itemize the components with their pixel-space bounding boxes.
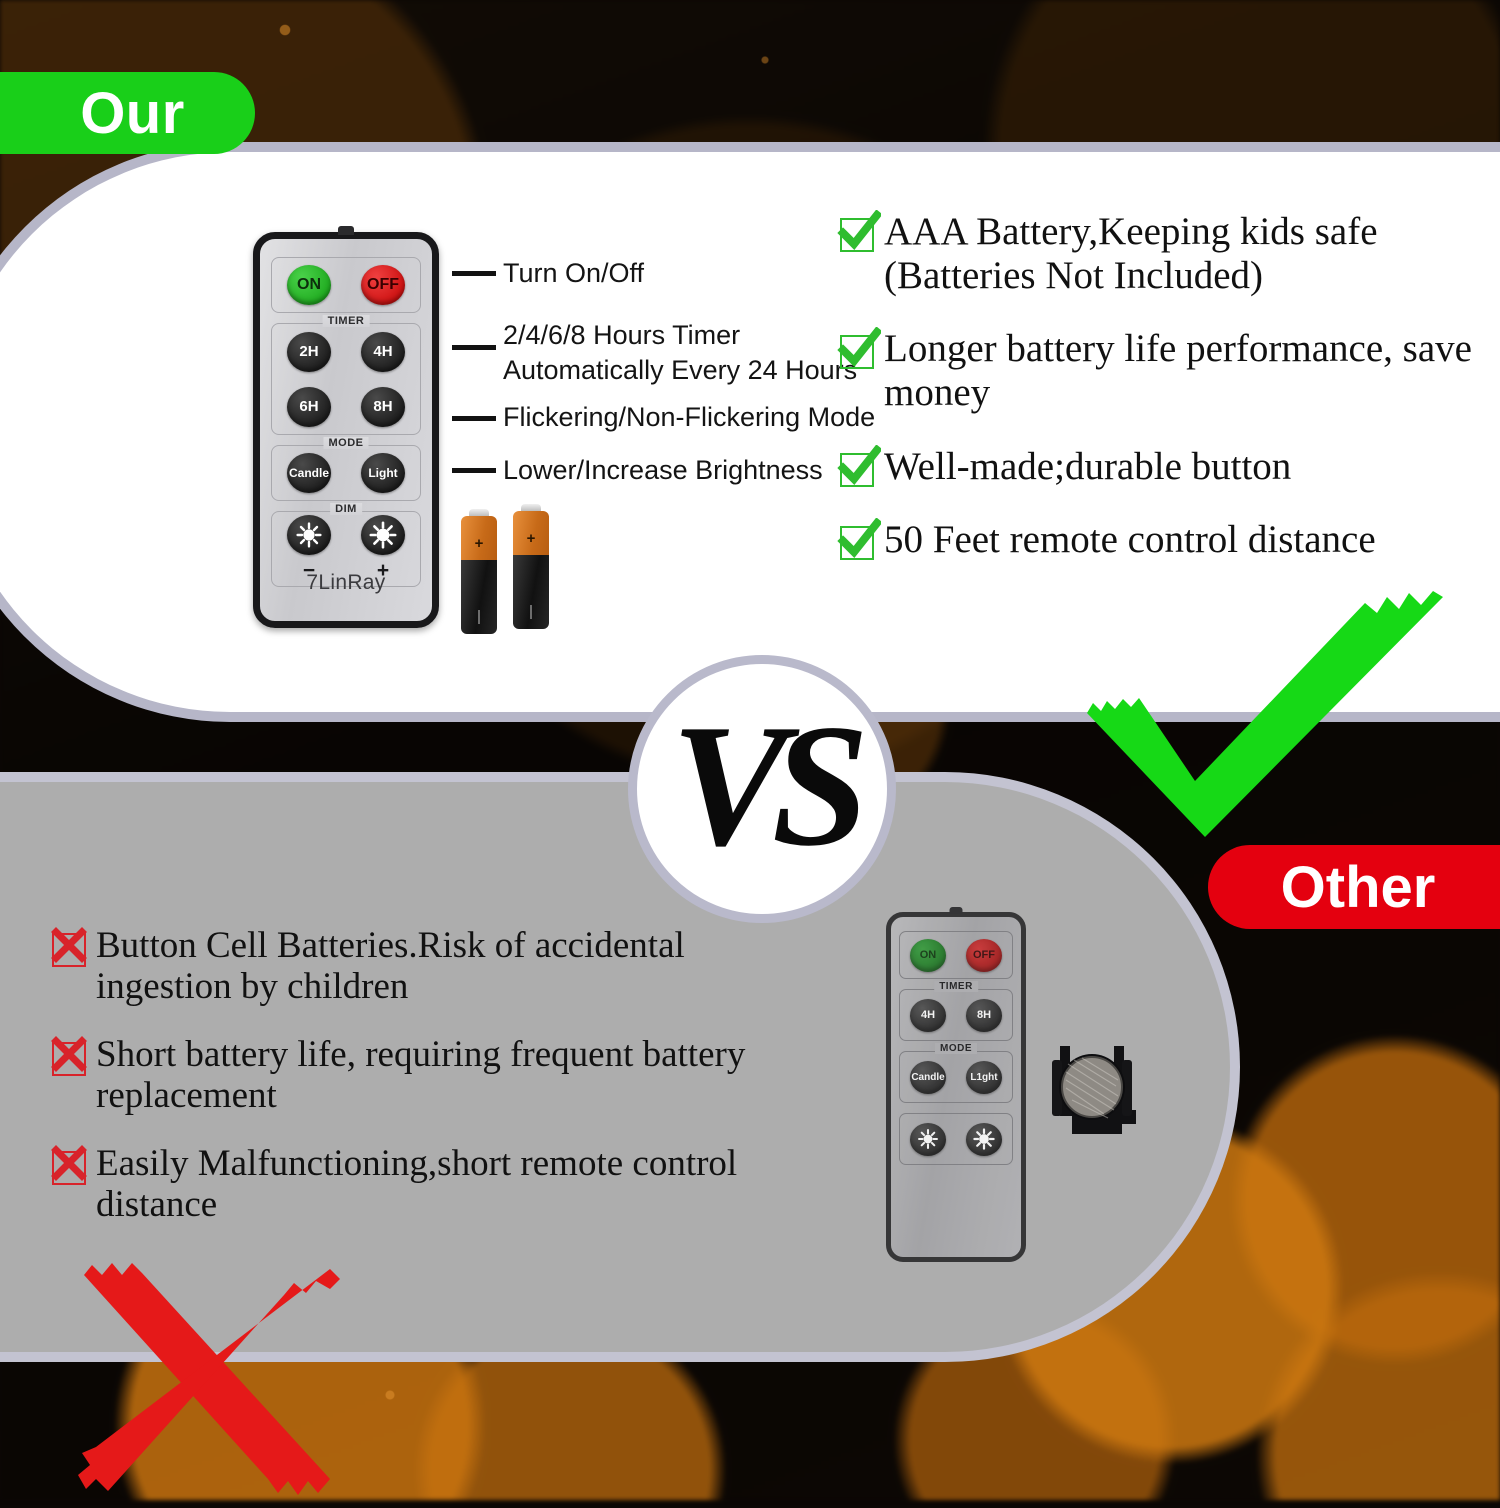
on-button[interactable]: ON bbox=[287, 265, 331, 305]
battery-body bbox=[461, 560, 497, 634]
other-remote: ON OFF TIMER 4H 8H MODE Candle L1ght bbox=[886, 912, 1026, 1262]
mode-group: MODE Candle Light bbox=[271, 445, 421, 501]
our-badge-label: Our bbox=[80, 80, 185, 147]
other-dim-group bbox=[899, 1113, 1013, 1165]
feature-item: Well-made;durable button bbox=[840, 445, 1480, 489]
callout-mode: Flickering/Non-Flickering Mode bbox=[503, 400, 875, 435]
check-icon bbox=[840, 453, 874, 487]
feature-text: AAA Battery,Keeping kids safe (Batteries… bbox=[884, 210, 1480, 297]
drawback-text: Easily Malfunctioning,short remote contr… bbox=[96, 1143, 792, 1226]
other-power-group: ON OFF bbox=[899, 931, 1013, 979]
callout-power: Turn On/Off bbox=[503, 256, 644, 291]
vs-label: VS bbox=[671, 698, 853, 873]
callout-timer-line1: 2/4/6/8 Hours Timer bbox=[503, 318, 857, 353]
timer-label: TIMER bbox=[323, 315, 370, 327]
check-icon bbox=[840, 526, 874, 560]
other-dim-down-button[interactable] bbox=[910, 1123, 946, 1156]
dim-down-button[interactable] bbox=[287, 515, 331, 555]
mode-light-button[interactable]: Light bbox=[361, 453, 405, 493]
cross-icon bbox=[52, 1151, 86, 1185]
battery-2: + bbox=[513, 511, 549, 629]
other-mode-light-button[interactable]: L1ght bbox=[966, 1061, 1002, 1094]
other-badge: Other bbox=[1208, 845, 1500, 929]
timer-4h-button[interactable]: 4H bbox=[361, 332, 405, 372]
callout-timer: 2/4/6/8 Hours Timer Automatically Every … bbox=[503, 318, 857, 387]
other-badge-label: Other bbox=[1281, 854, 1436, 921]
brightness-low-icon bbox=[917, 1128, 939, 1150]
dim-label: DIM bbox=[330, 503, 362, 515]
drawback-text: Short battery life, requiring frequent b… bbox=[96, 1034, 792, 1117]
callout-line-power bbox=[452, 271, 496, 276]
other-dim-up-button[interactable] bbox=[966, 1123, 1002, 1156]
battery-plus-sign: + bbox=[475, 536, 484, 551]
feature-list: AAA Battery,Keeping kids safe (Batteries… bbox=[840, 210, 1480, 592]
other-timer-8h-button[interactable]: 8H bbox=[966, 999, 1002, 1032]
ir-emitter bbox=[338, 226, 354, 235]
coin-cell-holder bbox=[1046, 1032, 1138, 1144]
callout-line-mode bbox=[452, 416, 496, 421]
timer-2h-button[interactable]: 2H bbox=[287, 332, 331, 372]
our-badge: Our bbox=[0, 72, 255, 154]
drawback-item: Easily Malfunctioning,short remote contr… bbox=[52, 1143, 792, 1226]
battery-1: + bbox=[461, 516, 497, 634]
battery-body bbox=[513, 555, 549, 629]
callout-dim: Lower/Increase Brightness bbox=[503, 453, 823, 488]
feature-text: 50 Feet remote control distance bbox=[884, 518, 1376, 562]
other-timer-group: TIMER 4H 8H bbox=[899, 989, 1013, 1041]
battery-positive-end: + bbox=[513, 511, 549, 555]
other-off-button[interactable]: OFF bbox=[966, 939, 1002, 972]
our-remote: ON OFF TIMER 2H 4H 6H 8H MODE Candle Lig… bbox=[253, 232, 439, 628]
other-mode-candle-button[interactable]: Candle bbox=[910, 1061, 946, 1094]
cross-icon bbox=[52, 1042, 86, 1076]
mode-label: MODE bbox=[324, 437, 369, 449]
drawback-item: Short battery life, requiring frequent b… bbox=[52, 1034, 792, 1117]
feature-item: 50 Feet remote control distance bbox=[840, 518, 1480, 562]
large-check-mark-icon bbox=[1065, 585, 1455, 840]
other-timer-4h-button[interactable]: 4H bbox=[910, 999, 946, 1032]
power-group: ON OFF bbox=[271, 257, 421, 313]
off-button[interactable]: OFF bbox=[361, 265, 405, 305]
timer-group: TIMER 2H 4H 6H 8H bbox=[271, 323, 421, 435]
brightness-low-icon bbox=[295, 521, 323, 549]
mode-candle-button[interactable]: Candle bbox=[287, 453, 331, 493]
brightness-high-icon bbox=[369, 521, 397, 549]
other-on-button[interactable]: ON bbox=[910, 939, 946, 972]
battery-plus-sign: + bbox=[527, 531, 536, 546]
dim-up-button[interactable] bbox=[361, 515, 405, 555]
feature-item: AAA Battery,Keeping kids safe (Batteries… bbox=[840, 210, 1480, 297]
feature-item: Longer battery life performance, save mo… bbox=[840, 327, 1480, 414]
other-mode-group: MODE Candle L1ght bbox=[899, 1051, 1013, 1103]
remote-brand-label: 7LinRay bbox=[260, 571, 432, 595]
callout-timer-line2: Automatically Every 24 Hours bbox=[503, 353, 857, 388]
drawback-item: Button Cell Batteries.Risk of accidental… bbox=[52, 925, 792, 1008]
battery-positive-end: + bbox=[461, 516, 497, 560]
check-icon bbox=[840, 218, 874, 252]
ir-emitter bbox=[950, 907, 963, 914]
callout-line-dim bbox=[452, 468, 496, 473]
other-mode-label: MODE bbox=[935, 1043, 977, 1054]
feature-text: Longer battery life performance, save mo… bbox=[884, 327, 1480, 414]
timer-8h-button[interactable]: 8H bbox=[361, 387, 405, 427]
vs-badge: VS bbox=[628, 655, 896, 923]
drawback-list: Button Cell Batteries.Risk of accidental… bbox=[52, 925, 792, 1252]
other-timer-label: TIMER bbox=[934, 981, 978, 992]
check-icon bbox=[840, 335, 874, 369]
drawback-text: Button Cell Batteries.Risk of accidental… bbox=[96, 925, 792, 1008]
cross-icon bbox=[52, 933, 86, 967]
feature-text: Well-made;durable button bbox=[884, 445, 1291, 489]
large-cross-mark-icon bbox=[68, 1253, 368, 1503]
brightness-high-icon bbox=[973, 1128, 995, 1150]
timer-6h-button[interactable]: 6H bbox=[287, 387, 331, 427]
callout-line-timer bbox=[452, 345, 496, 350]
